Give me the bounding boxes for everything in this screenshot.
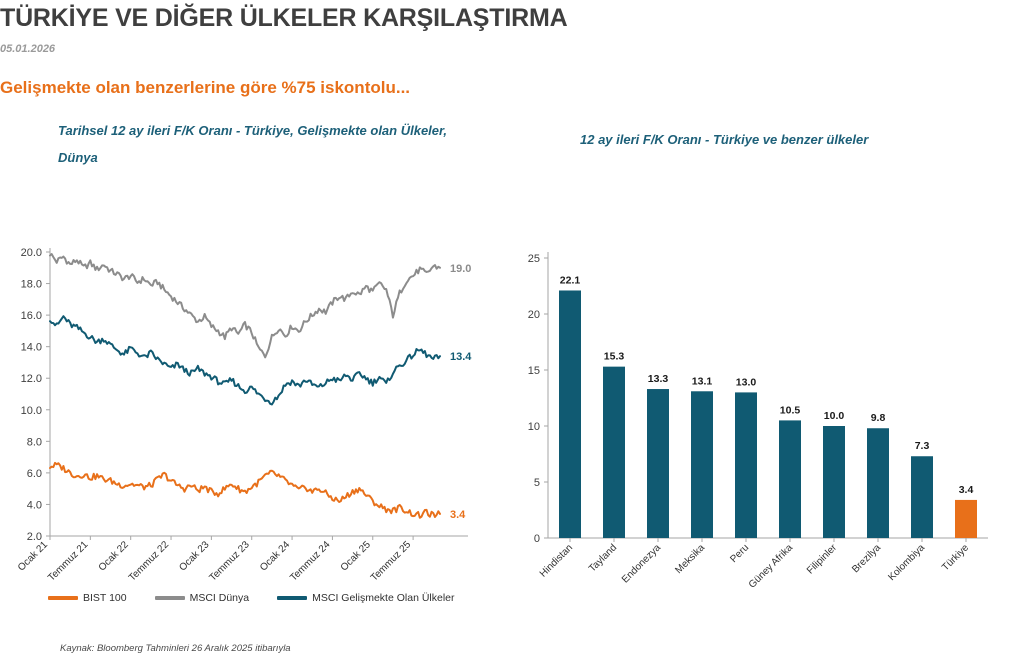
line-y-tick-label: 14.0 xyxy=(21,342,42,354)
bar-2[interactable] xyxy=(603,367,625,538)
bar-x-label-group: Tayland xyxy=(587,542,619,574)
bar-1[interactable] xyxy=(559,290,581,538)
legend-item-2[interactable]: MSCI Dünya xyxy=(155,592,250,604)
bar-category-label-3: Endonezya xyxy=(620,542,663,585)
bar-7[interactable] xyxy=(823,426,845,538)
bar-value-label-6: 10.5 xyxy=(780,404,801,416)
bar-chart-svg: 051015202522.1Hindistan15.3Tayland13.3En… xyxy=(508,240,1008,580)
line-x-tick-label-group: Temmuz 24 xyxy=(288,539,333,584)
line-x-tick-label: Temmuz 21 xyxy=(46,539,91,584)
legend-item-3[interactable]: MSCI Gelişmekte Olan Ülkeler xyxy=(277,592,454,604)
line-x-tick-label-group: Temmuz 23 xyxy=(208,539,253,584)
bar-value-label-1: 22.1 xyxy=(560,274,581,286)
legend-label-3: MSCI Gelişmekte Olan Ülkeler xyxy=(312,592,454,604)
line-x-tick-label-group: Ocak 23 xyxy=(177,539,211,573)
bar-x-label-group: Güney Afrika xyxy=(747,542,796,591)
line-x-tick-label: Ocak 25 xyxy=(339,539,373,573)
bar-value-label-5: 13.0 xyxy=(736,376,757,388)
line-y-tick-label: 20.0 xyxy=(21,247,42,259)
legend-item-1[interactable]: BIST 100 xyxy=(48,592,127,604)
bar-y-tick-label: 10 xyxy=(528,421,540,433)
bar-value-label-10: 3.4 xyxy=(959,484,974,496)
line-y-tick-label: 12.0 xyxy=(21,373,42,385)
line-x-tick-label: Temmuz 23 xyxy=(208,539,253,584)
slide: TÜRKİYE VE DİĞER ÜLKELER KARŞILAŞTIRMA 0… xyxy=(0,0,1012,663)
bar-category-label-9: Kolombiya xyxy=(886,542,927,583)
line-x-tick-label-group: Ocak 21 xyxy=(16,539,50,573)
legend-swatch-2 xyxy=(155,596,185,600)
bar-3[interactable] xyxy=(647,389,669,538)
source-note: Kaynak: Bloomberg Tahminleri 26 Aralık 2… xyxy=(60,643,291,654)
bar-category-label-5: Peru xyxy=(728,542,751,565)
bar-4[interactable] xyxy=(691,391,713,538)
line-x-tick-label: Ocak 22 xyxy=(97,539,131,573)
bar-category-label-4: Meksika xyxy=(673,542,707,576)
line-y-tick-label: 16.0 xyxy=(21,310,42,322)
line-series-3 xyxy=(50,463,440,518)
bar-category-label-2: Tayland xyxy=(587,542,619,574)
bar-value-label-3: 13.3 xyxy=(648,373,669,385)
line-x-tick-label-group: Temmuz 22 xyxy=(127,539,172,584)
bar-chart-title: 12 ay ileri F/K Oranı - Türkiye ve benze… xyxy=(580,126,1000,153)
line-x-tick-label-group: Ocak 22 xyxy=(97,539,131,573)
line-y-tick-label: 6.0 xyxy=(27,468,42,480)
bar-x-label-group: Türkiye xyxy=(940,542,971,573)
bar-value-label-9: 7.3 xyxy=(915,440,930,452)
bar-y-tick-label: 15 xyxy=(528,365,540,377)
bar-x-label-group: Brezilya xyxy=(850,542,883,575)
legend-swatch-1 xyxy=(48,596,78,600)
line-end-label-1: 19.0 xyxy=(450,263,471,275)
page-date: 05.01.2026 xyxy=(0,43,55,55)
bar-y-tick-label: 0 xyxy=(534,533,540,545)
bar-category-label-8: Brezilya xyxy=(850,542,883,575)
line-y-tick-label: 18.0 xyxy=(21,279,42,291)
bar-x-label-group: Filipinler xyxy=(805,542,840,577)
line-chart-legend: BIST 100MSCI DünyaMSCI Gelişmekte Olan Ü… xyxy=(48,592,455,604)
page-kicker: Gelişmekte olan benzerlerine göre %75 is… xyxy=(0,78,410,98)
line-x-tick-label-group: Ocak 25 xyxy=(339,539,373,573)
line-y-tick-label: 10.0 xyxy=(21,405,42,417)
bar-value-label-8: 9.8 xyxy=(871,412,886,424)
line-y-tick-label: 4.0 xyxy=(27,499,42,511)
line-x-tick-label-group: Temmuz 21 xyxy=(46,539,91,584)
line-x-tick-label: Temmuz 22 xyxy=(127,539,172,584)
bar-y-tick-label: 25 xyxy=(528,253,540,265)
page-title: TÜRKİYE VE DİĞER ÜLKELER KARŞILAŞTIRMA xyxy=(0,4,567,33)
legend-label-2: MSCI Dünya xyxy=(190,592,250,604)
bar-x-label-group: Endonezya xyxy=(620,542,663,585)
bar-category-label-1: Hindistan xyxy=(538,542,575,579)
bar-x-label-group: Meksika xyxy=(673,542,707,576)
line-end-label-2: 13.4 xyxy=(450,351,472,363)
bar-x-label-group: Kolombiya xyxy=(886,542,927,583)
bar-10[interactable] xyxy=(955,500,977,538)
line-series-2 xyxy=(50,316,440,404)
line-x-tick-label-group: Temmuz 25 xyxy=(369,539,414,584)
bar-chart: 051015202522.1Hindistan15.3Tayland13.3En… xyxy=(508,240,1008,580)
bar-x-label-group: Peru xyxy=(728,542,751,565)
line-x-tick-label: Ocak 21 xyxy=(16,539,50,573)
line-chart-title: Tarihsel 12 ay ileri F/K Oranı - Türkiye… xyxy=(58,117,488,171)
bar-category-label-7: Filipinler xyxy=(805,542,840,577)
legend-swatch-3 xyxy=(277,596,307,600)
bar-5[interactable] xyxy=(735,392,757,538)
bar-value-label-2: 15.3 xyxy=(604,351,625,363)
bar-value-label-4: 13.1 xyxy=(692,375,713,387)
line-x-tick-label: Ocak 23 xyxy=(177,539,211,573)
bar-6[interactable] xyxy=(779,420,801,538)
bar-9[interactable] xyxy=(911,456,933,538)
line-x-tick-label: Temmuz 24 xyxy=(288,539,333,584)
bar-value-label-7: 10.0 xyxy=(824,410,845,422)
line-y-tick-label: 8.0 xyxy=(27,436,42,448)
line-x-tick-label-group: Ocak 24 xyxy=(258,539,292,573)
line-x-tick-label: Ocak 24 xyxy=(258,539,292,573)
bar-category-label-10: Türkiye xyxy=(940,542,971,573)
bar-category-label-6: Güney Afrika xyxy=(747,542,796,591)
bar-8[interactable] xyxy=(867,428,889,538)
line-x-tick-label: Temmuz 25 xyxy=(369,539,414,584)
bar-x-label-group: Hindistan xyxy=(538,542,575,579)
legend-label-1: BIST 100 xyxy=(83,592,127,604)
bar-y-tick-label: 5 xyxy=(534,477,540,489)
line-end-label-3: 3.4 xyxy=(450,509,466,521)
bar-y-tick-label: 20 xyxy=(528,309,540,321)
